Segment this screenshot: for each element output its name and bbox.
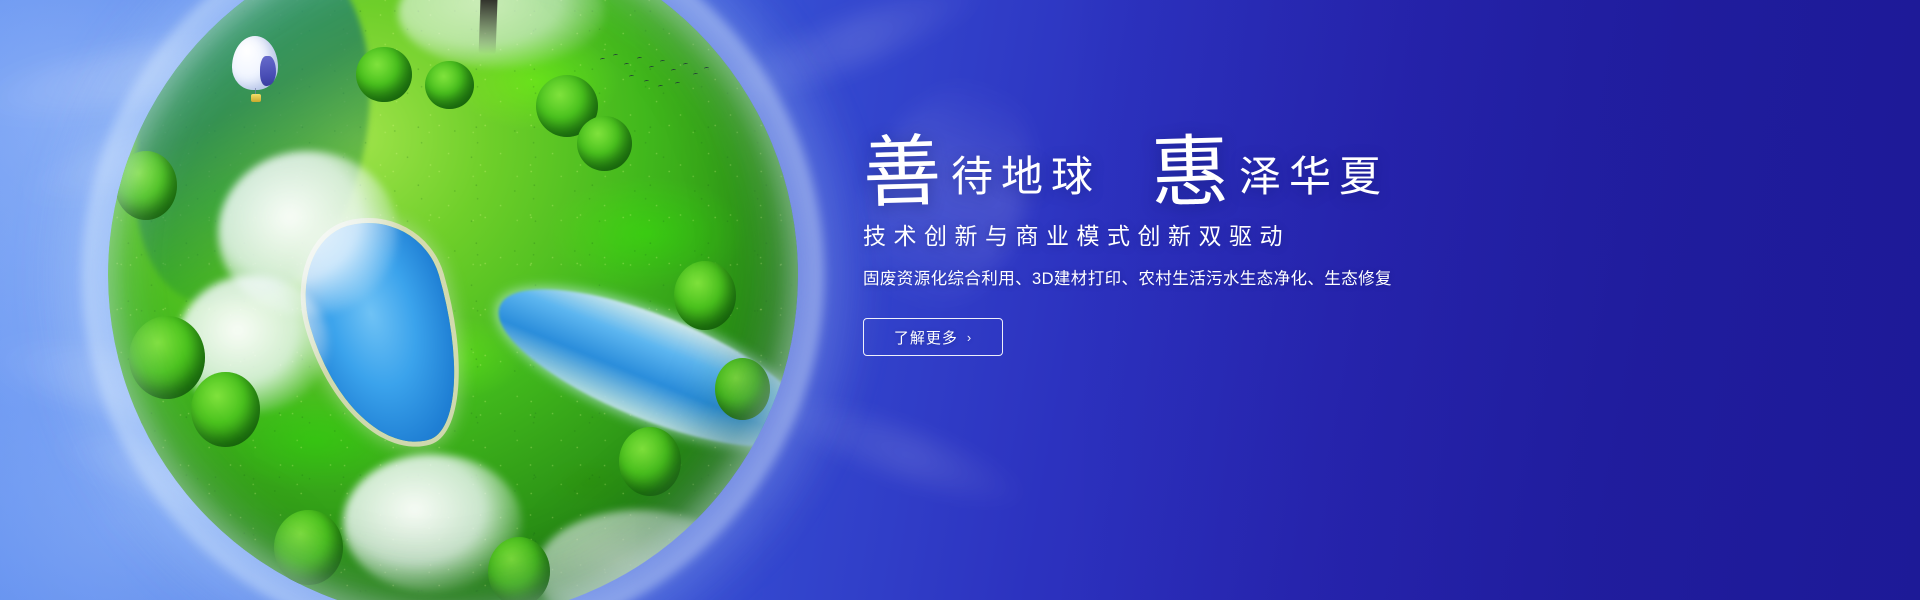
headline-small-text-1: 待地球 [941, 156, 1101, 202]
page-subtitle: 技术创新与商业模式创新双驱动 [863, 222, 1763, 252]
learn-more-label: 了解更多 [894, 327, 958, 348]
hero-banner: 善 待地球 惠 泽华夏 技术创新与商业模式创新双驱动 固废资源化综合利用、3D建… [0, 0, 1920, 600]
hero-content: 善 待地球 惠 泽华夏 技术创新与商业模式创新双驱动 固废资源化综合利用、3D建… [863, 132, 1763, 356]
headline-small-text-2: 泽华夏 [1229, 156, 1389, 202]
headline-big-char-1: 善 [862, 137, 942, 209]
chevron-right-icon: › [967, 331, 972, 344]
page-description: 固废资源化综合利用、3D建材打印、农村生活污水生态净化、生态修复 [863, 268, 1763, 292]
page-title: 善 待地球 惠 泽华夏 [863, 132, 1763, 202]
learn-more-button[interactable]: 了解更多 › [863, 318, 1003, 356]
headline-big-char-2: 惠 [1150, 137, 1230, 209]
